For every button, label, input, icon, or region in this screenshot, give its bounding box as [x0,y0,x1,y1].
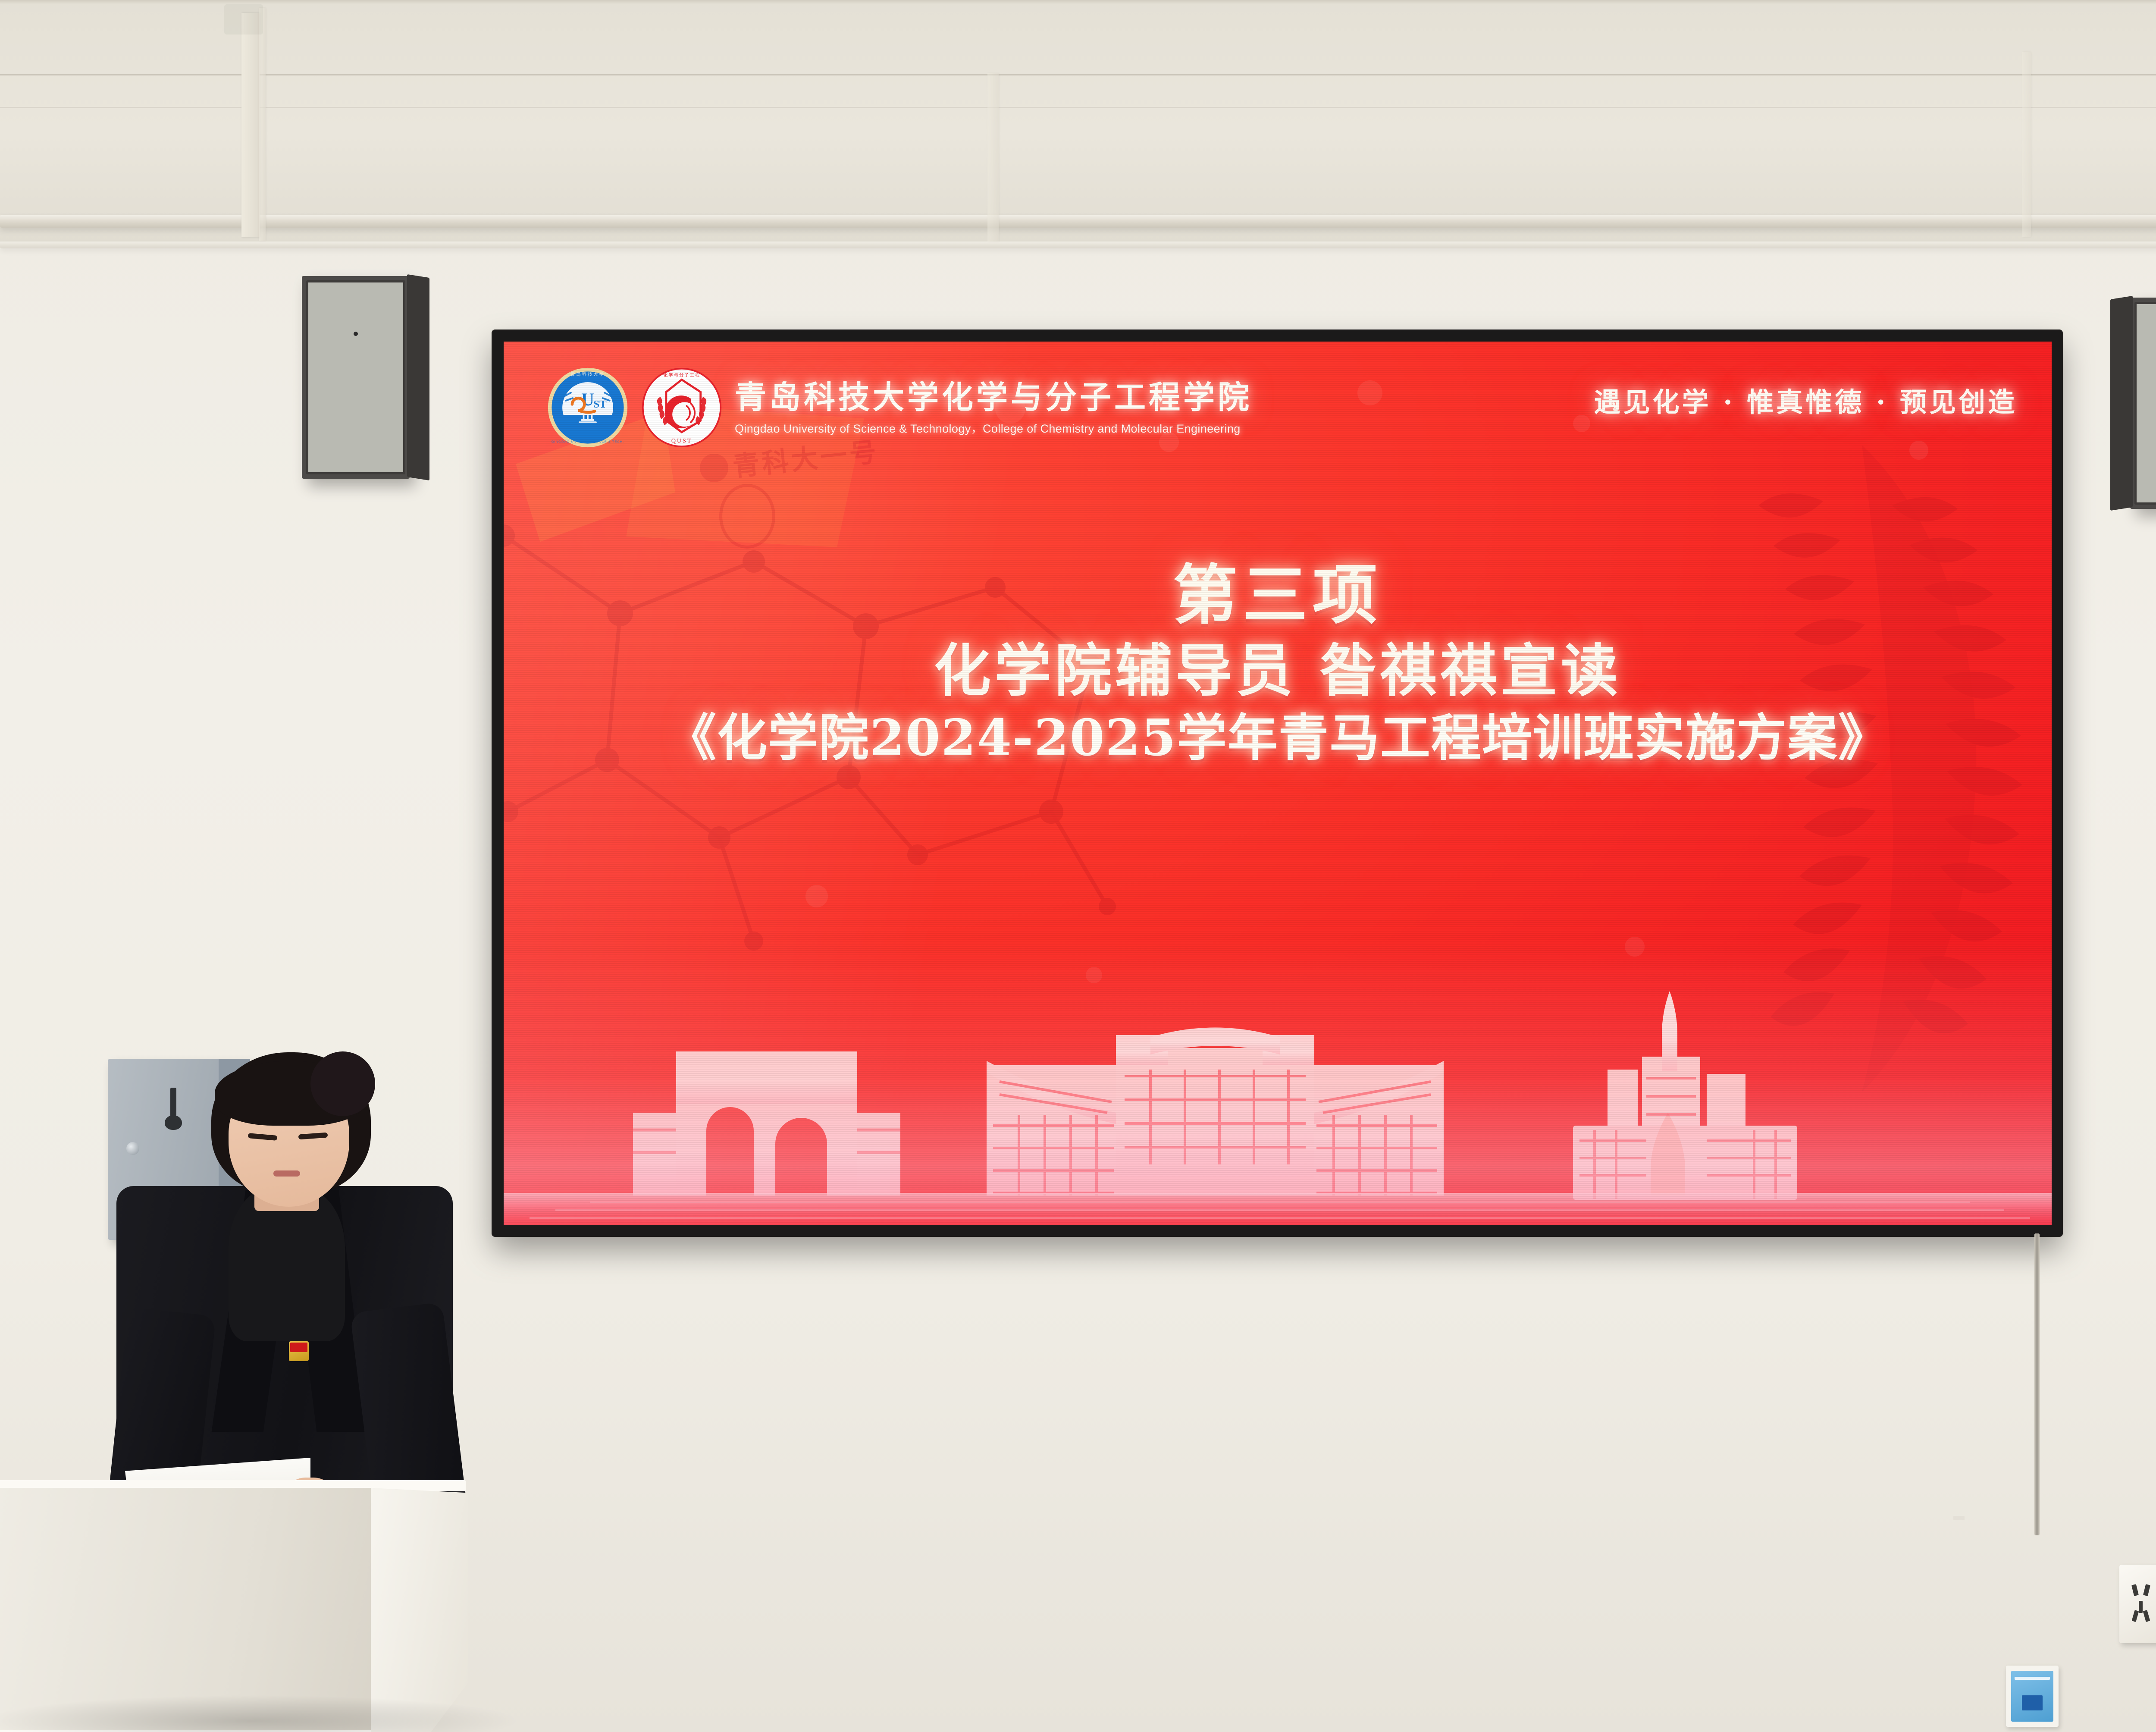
upper-wall [0,0,2156,242]
wall-conduit-left [241,13,260,237]
screen-bottom-glow [504,942,2052,1225]
ceiling-hole [224,4,263,35]
bokeh-dot [1357,380,1382,405]
party-emblem-lapel-pin [289,1341,309,1361]
ceiling-edge [0,0,2156,4]
outlet-slot [2132,1610,2139,1622]
svg-text:ST: ST [593,398,607,410]
screen-power-cable [2034,1233,2040,1535]
presenter [99,1044,479,1531]
outlet-slot [2139,1601,2143,1613]
screen-header-text: 青岛科技大学化学与分子工程学院 Qingdao University of Sc… [735,382,1252,436]
headline-block: 第三项 化学院辅导员 昝祺祺宣读 《化学院2024-2025学年青马工程培训班实… [504,562,2052,767]
breaker-window [2011,1671,2053,1722]
header-title-en: Qingdao University of Science & Technolo… [735,419,1252,436]
wall-conduit-right [2022,52,2031,237]
presenter-hair-bun [310,1051,375,1116]
bokeh-dot [1909,441,1928,460]
svg-text:化学与分子工程: 化学与分子工程 [663,372,700,378]
wall-speaker-right [2130,298,2156,509]
ceiling-pipe-main [0,215,2156,228]
speaker-left-dot [354,332,358,336]
headline-line-3: 《化学院2024-2025学年青马工程培训班实施方案》 [504,709,2052,767]
podium-floor-shadow [0,1695,522,1732]
speaker-left-grille [306,280,405,474]
presenter-mouth [273,1170,300,1177]
wall-seam-upper-2 [0,107,2156,108]
speaker-right-grille [2134,302,2156,505]
power-outlet-left[interactable] [2119,1565,2156,1643]
svg-text:QINGDAO UNIV. OF SCIENCE & TEC: QINGDAO UNIV. OF SCIENCE & TECH. [552,440,624,444]
headline-line-2: 化学院辅导员 昝祺祺宣读 [504,639,2052,703]
college-of-chemistry-emblem-icon: 化学与分子工程 QUST [641,367,723,451]
pin-flag [290,1343,307,1352]
ceiling-pipe-secondary [0,242,2156,248]
screen-header: U ST 青岛科技大学 QINGDAO UNIV. OF SCIENCE & T… [547,367,1252,451]
wall-conduit-left-2 [259,8,266,241]
speaker-right-side [2110,296,2133,511]
header-title-cn: 青岛科技大学化学与分子工程学院 [735,382,1252,413]
outlet-slot [2143,1584,2150,1596]
outlet-slot [2131,1584,2139,1596]
screen-surface: 青科大一号 [504,342,2052,1225]
led-presentation-screen[interactable]: 青科大一号 [492,330,2062,1236]
headline-line-1: 第三项 [504,562,2052,630]
breaker-panel[interactable] [2006,1666,2059,1727]
wall-scuff [1953,1516,1965,1520]
bokeh-dot [1573,415,1590,432]
lecture-hall-scene: 青科大一号 [0,0,2156,1732]
qust-university-seal-icon: U ST 青岛科技大学 QINGDAO UNIV. OF SCIENCE & T… [547,367,629,451]
wall-seam-upper [0,74,2156,75]
svg-text:QUST: QUST [671,438,693,445]
wall-speaker-left [302,276,410,479]
outlet-slot [2143,1610,2150,1622]
svg-text:青岛科技大学: 青岛科技大学 [570,371,605,377]
header-slogan: 遇见化学 · 惟真惟德 · 预见创造 [1594,380,2017,419]
speaker-left-side [407,274,429,480]
wall-conduit-mid [987,73,999,242]
